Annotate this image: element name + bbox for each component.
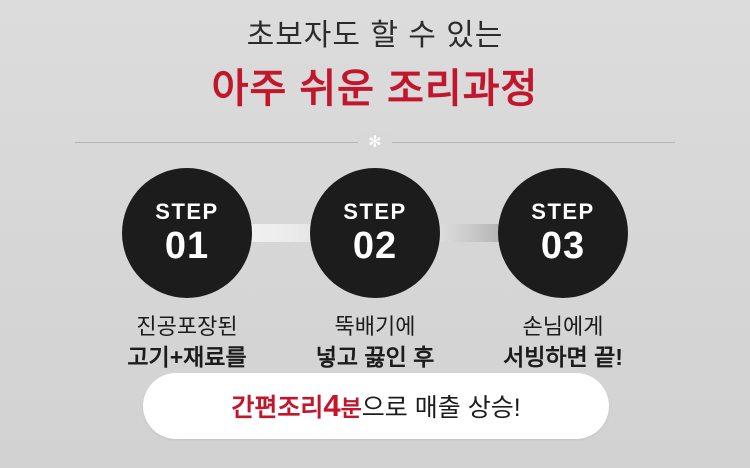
bottom-banner: 간편조리4분으로 매출 상승! <box>143 373 609 439</box>
step-caption-01-line1: 진공포장된 <box>97 312 277 342</box>
headline-block: 초보자도 할 수 있는 아주 쉬운 조리과정 <box>0 0 750 112</box>
banner-highlight: 간편조리 <box>231 394 323 422</box>
step-caption-01-line2: 고기+재료를 <box>97 342 277 373</box>
step-caption-02-line1: 뚝배기에 <box>285 312 465 342</box>
step-number-03: 03 <box>541 227 585 265</box>
step-label-02: STEP <box>343 201 406 223</box>
step-caption-03: 손님에게 서빙하면 끝! <box>473 312 653 373</box>
divider: ✻ <box>75 134 675 150</box>
banner-unit: 분 <box>341 395 362 421</box>
step-badge-02: STEP 02 <box>310 168 440 298</box>
banner-rest: 으로 매출 상승! <box>362 394 521 422</box>
step-number-01: 01 <box>165 227 209 265</box>
step-caption-03-line1: 손님에게 <box>473 312 653 342</box>
step-badge-01: STEP 01 <box>122 168 252 298</box>
step-caption-01: 진공포장된 고기+재료를 <box>97 312 277 373</box>
infographic-page: 초보자도 할 수 있는 아주 쉬운 조리과정 ✻ STEP 01 STEP 02… <box>0 0 750 468</box>
step-caption-03-line2: 서빙하면 끝! <box>473 342 653 373</box>
step-caption-02: 뚝배기에 넣고 끓인 후 <box>285 312 465 373</box>
flower-icon: ✻ <box>358 134 392 152</box>
headline-title: 아주 쉬운 조리과정 <box>0 66 750 112</box>
step-badge-03: STEP 03 <box>498 168 628 298</box>
steps-row: STEP 01 STEP 02 STEP 03 <box>0 168 750 298</box>
step-caption-02-line2: 넣고 끓인 후 <box>285 342 465 373</box>
bottom-banner-text: 간편조리4분으로 매출 상승! <box>231 388 520 424</box>
banner-number: 4 <box>323 388 340 423</box>
step-label-01: STEP <box>155 201 218 223</box>
step-label-03: STEP <box>531 201 594 223</box>
step-number-02: 02 <box>353 227 397 265</box>
headline-subtitle: 초보자도 할 수 있는 <box>0 18 750 54</box>
